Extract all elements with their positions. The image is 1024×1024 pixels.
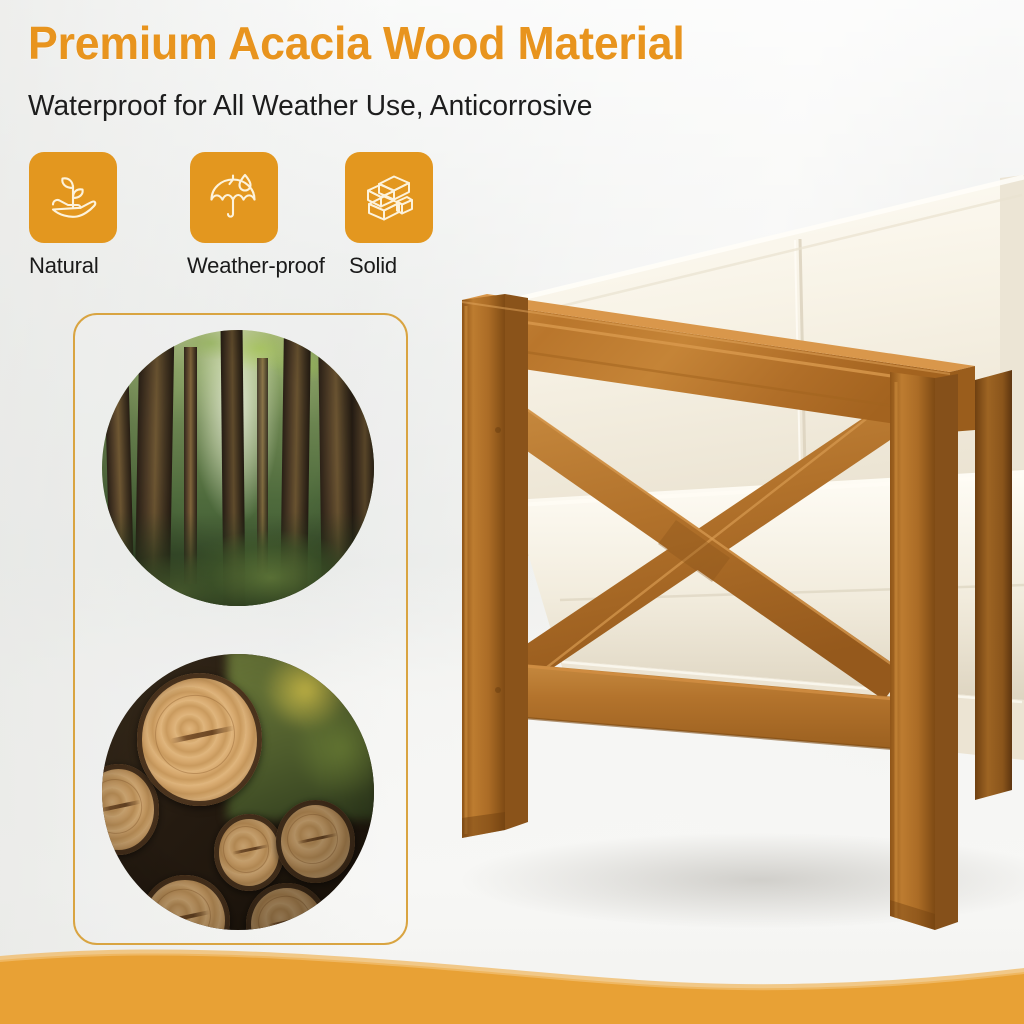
logs-vignette [102,654,374,930]
photo-card [73,313,408,945]
badge-tile-solid [345,152,433,243]
footer-wave [0,914,1024,1024]
badge-tile-weather-proof [190,152,278,243]
plant-in-hand-icon [45,170,101,226]
page-title: Premium Acacia Wood Material [28,16,685,70]
forest-vignette [102,330,374,606]
stacked-bricks-icon [361,170,417,226]
logs-photo-scene [102,654,374,930]
logs-photo [102,654,374,930]
feature-item-weather-proof: Weather-proof [190,152,310,279]
badge-tile-natural [29,152,117,243]
feature-list: Natural [29,152,459,282]
feature-label-weather-proof: Weather-proof [187,253,310,279]
page-subtitle: Waterproof for All Weather Use, Anticorr… [28,90,592,123]
feature-label-natural: Natural [29,253,149,279]
feature-item-natural: Natural [29,152,149,279]
feature-label-solid: Solid [349,253,465,279]
forest-photo [102,330,374,606]
feature-item-solid: Solid [345,152,465,279]
product-feature-banner: Premium Acacia Wood Material Waterproof … [0,0,1024,1024]
umbrella-water-drop-icon [206,170,262,226]
forest-photo-scene [102,330,374,606]
